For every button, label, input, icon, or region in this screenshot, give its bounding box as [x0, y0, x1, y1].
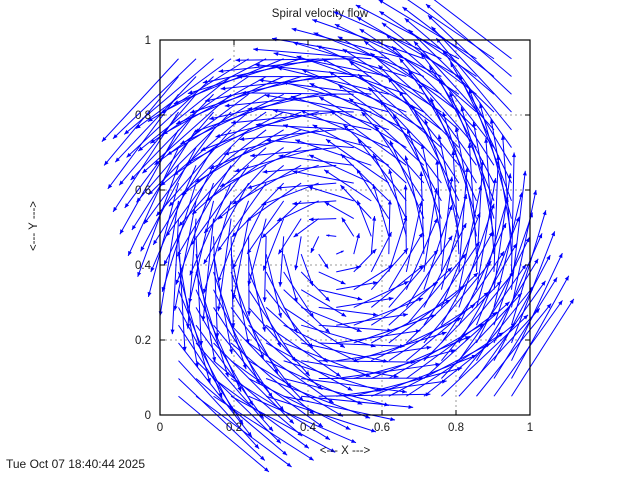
quiver-shaft [371, 216, 374, 254]
quiver-shaft [248, 219, 266, 286]
quiver-head [512, 153, 516, 158]
quiver-shaft [389, 200, 390, 254]
quiver-head [379, 11, 384, 15]
quiver-shaft [294, 219, 319, 237]
quiver-shaft [265, 236, 267, 302]
quiver-shaft [153, 148, 213, 245]
quiver-head [171, 330, 175, 335]
quiver-head [205, 98, 210, 102]
quiver-shaft [232, 183, 284, 237]
quiver-shaft [284, 254, 297, 302]
quiver-head [324, 170, 329, 174]
quiver-head [357, 297, 362, 301]
quiver-shaft [249, 361, 343, 417]
quiver-shaft [218, 165, 284, 219]
quiver-head [570, 299, 574, 304]
quiver-head [309, 217, 314, 221]
quiver-head [292, 202, 297, 206]
quiver-shaft [325, 202, 354, 219]
quiver-head [263, 297, 267, 302]
quiver-head [442, 112, 446, 117]
quiver-shaft [293, 171, 354, 183]
quiver-head [229, 349, 233, 354]
quiver-head [438, 135, 442, 140]
quiver-head [293, 42, 298, 46]
quiver-shaft [424, 281, 501, 361]
quiver-shaft [319, 325, 392, 330]
quiver-shaft [437, 160, 441, 254]
quiver-shaft [336, 298, 393, 307]
quiver-head [287, 463, 292, 467]
x-tick-label: 0 [157, 422, 163, 434]
quiver-shaft [308, 187, 354, 201]
x-tick-label: 0.4 [300, 422, 317, 434]
quiver-head [359, 29, 364, 33]
quiver-head [442, 332, 447, 336]
x-tick-label: 0.6 [374, 422, 390, 434]
quiver-shaft [459, 243, 517, 343]
quiver-head [217, 306, 221, 311]
quiver-shaft [324, 170, 371, 201]
quiver-shaft [261, 183, 318, 205]
quiver-shaft [233, 219, 248, 300]
quiver-head [448, 236, 452, 241]
quiver-head [253, 48, 258, 52]
timestamp-footer: Tue Oct 07 18:40:44 2025 [6, 457, 145, 471]
quiver-head [342, 218, 346, 223]
quiver-head [137, 272, 141, 277]
quiver-head [159, 311, 163, 316]
quiver-head [272, 37, 277, 41]
y-tick-label: 0.4 [135, 260, 152, 272]
x-axis-label: <--- X ---> [160, 445, 530, 457]
quiver-head [336, 372, 341, 376]
quiver-shaft [494, 277, 557, 378]
y-tick-label: 0.8 [135, 110, 151, 122]
quiver-shaft [406, 185, 407, 254]
quiver-head [274, 52, 279, 56]
y-tick-label: 1 [145, 35, 151, 47]
quiver-shaft [292, 29, 407, 59]
quiver-head [308, 186, 313, 190]
quiver-head [558, 300, 562, 305]
quiver-shaft [309, 155, 371, 183]
quiver-shaft [119, 94, 196, 185]
quiver-shaft [406, 201, 421, 272]
quiver-shaft [280, 236, 284, 286]
plot-area: 00.20.40.60.8100.20.40.60.81 [0, 0, 640, 480]
quiver-shaft [371, 318, 461, 361]
quiver-shaft [407, 129, 441, 219]
quiver-shaft [192, 148, 266, 215]
quiver-shaft [319, 343, 405, 346]
y-tick-label: 0 [145, 410, 151, 422]
quiver-head [201, 147, 206, 151]
quiver-head [404, 156, 408, 161]
quiver-shaft [450, 62, 511, 165]
quiver-shaft [379, 0, 477, 59]
quiver-head [176, 280, 180, 285]
x-tick-label: 0.8 [448, 422, 464, 434]
quiver-head [294, 265, 298, 270]
quiver-shaft [301, 361, 398, 377]
quiver-shaft [301, 254, 313, 286]
quiver-shaft [375, 126, 424, 201]
quiver-shaft [231, 236, 233, 327]
quiver-head [294, 233, 299, 237]
quiver-head [403, 313, 408, 317]
figure-canvas: Spiral velocity flow 00.20.40.60.8100.20… [0, 0, 640, 480]
quiver-head [404, 185, 408, 190]
quiver-head [390, 417, 395, 421]
quiver-head [243, 364, 247, 369]
quiver-shaft [266, 140, 353, 147]
quiver-head [310, 313, 314, 318]
quiver-head [533, 190, 537, 195]
vector-field-plot: 00.20.40.60.8100.20.40.60.81 [0, 0, 640, 480]
quiver-shaft [329, 72, 424, 130]
quiver-head [218, 246, 222, 251]
quiver-shaft [389, 250, 438, 308]
quiver-shaft [512, 276, 569, 379]
quiver-head [190, 110, 195, 114]
quiver-shaft [425, 0, 511, 59]
quiver-shaft [319, 307, 378, 315]
quiver-shaft [284, 307, 345, 347]
quiver-shaft [336, 314, 408, 325]
quiver-head [419, 171, 423, 176]
quiver-shaft [283, 82, 389, 112]
quiver-shaft [124, 59, 213, 135]
quiver-shaft [196, 378, 287, 455]
quiver-head [389, 297, 394, 301]
quiver-shaft [148, 183, 178, 297]
quiver-shaft [218, 183, 266, 251]
quiver-shaft [241, 93, 353, 94]
quiver-shaft [248, 109, 354, 112]
quiver-shaft [235, 59, 353, 61]
quiver-head [309, 281, 313, 286]
quiver-head [324, 264, 328, 269]
quiver-head [235, 58, 240, 62]
quiver-shaft [301, 272, 330, 301]
quiver-shaft [266, 254, 281, 318]
quiver-shaft [256, 125, 354, 130]
quiver-shaft [148, 112, 231, 195]
quiver-head [262, 327, 266, 332]
y-axis-label: <--- Y ---> [28, 126, 40, 326]
quiver-head [247, 249, 251, 254]
quiver-head [278, 282, 282, 287]
quiver-head [372, 216, 376, 221]
quiver-head [312, 19, 317, 23]
quiver-head [113, 207, 117, 212]
quiver-shaft [399, 58, 476, 147]
quiver-shaft [220, 148, 301, 187]
y-tick-label: 0.6 [135, 185, 151, 197]
quiver-head [338, 85, 343, 89]
quiver-shaft [494, 155, 498, 272]
quiver-shaft [209, 130, 301, 169]
quiver-head [174, 306, 178, 311]
quiver-head [551, 231, 555, 236]
quiver-shaft [373, 184, 389, 236]
quiver-head [132, 225, 136, 230]
quiver-shaft [214, 236, 218, 337]
quiver-head [218, 277, 222, 282]
quiver-shaft [349, 61, 441, 129]
quiver-head [427, 346, 432, 350]
quiver-shaft [179, 307, 234, 411]
quiver-head [278, 313, 282, 318]
quiver-head [188, 90, 193, 94]
y-tick-label: 0.2 [135, 335, 151, 347]
quiver-shaft [319, 290, 362, 300]
quiver-head [326, 139, 331, 143]
quiver-head [543, 210, 547, 215]
x-tick-label: 1 [527, 422, 533, 434]
x-tick-label: 0.2 [226, 422, 242, 434]
quiver-shaft [255, 65, 371, 77]
quiver-shaft [371, 300, 450, 343]
quiver-arrows [102, 0, 574, 472]
quiver-head [203, 80, 208, 84]
quiver-head [541, 281, 545, 286]
quiver-shaft [253, 49, 371, 59]
